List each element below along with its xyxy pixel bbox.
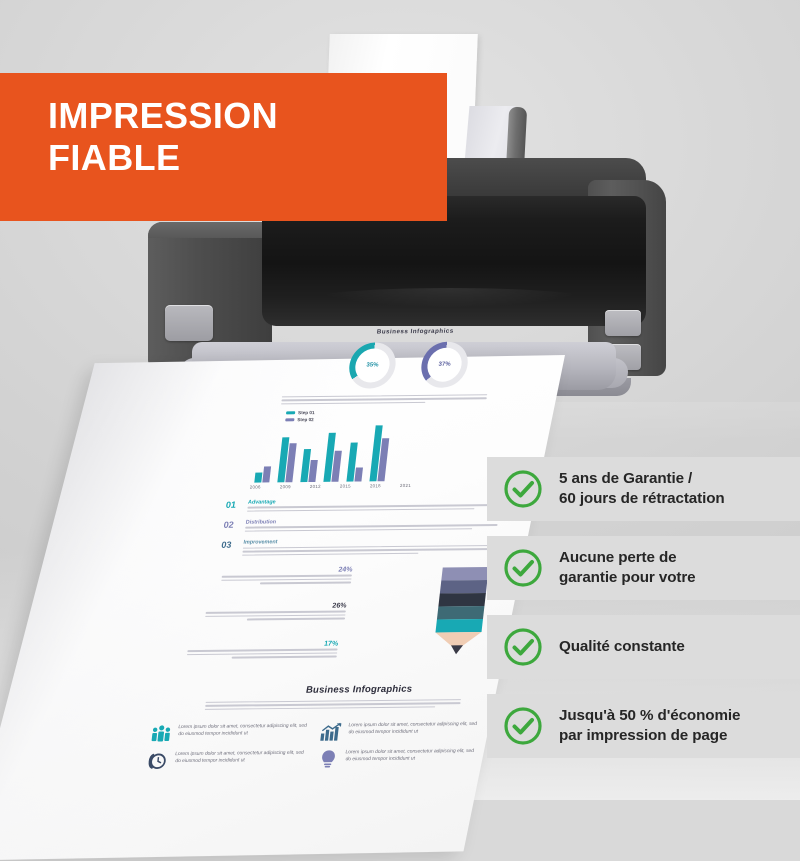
feature-item-4[interactable]: Jusqu'à 50 % d'économie par impression d… (487, 694, 800, 758)
check-circle-icon (503, 469, 543, 509)
feature-item-2[interactable]: Aucune perte de garantie pour votre (487, 536, 800, 600)
headline-banner: IMPRESSION FIABLE (0, 73, 447, 221)
feature-label-1: 5 ans de Garantie / 60 jours de rétracta… (559, 469, 725, 509)
check-circle-icon (503, 706, 543, 746)
check-circle-icon (503, 627, 543, 667)
check-circle-icon (503, 548, 543, 588)
feature-label-2: Aucune perte de garantie pour votre (559, 548, 696, 588)
headline-text: IMPRESSION FIABLE (0, 73, 447, 179)
feature-item-3[interactable]: Qualité constante (487, 615, 800, 679)
feature-item-1[interactable]: 5 ans de Garantie / 60 jours de rétracta… (487, 457, 800, 521)
feature-label-3: Qualité constante (559, 637, 685, 657)
feature-label-4: Jusqu'à 50 % d'économie par impression d… (559, 706, 740, 746)
